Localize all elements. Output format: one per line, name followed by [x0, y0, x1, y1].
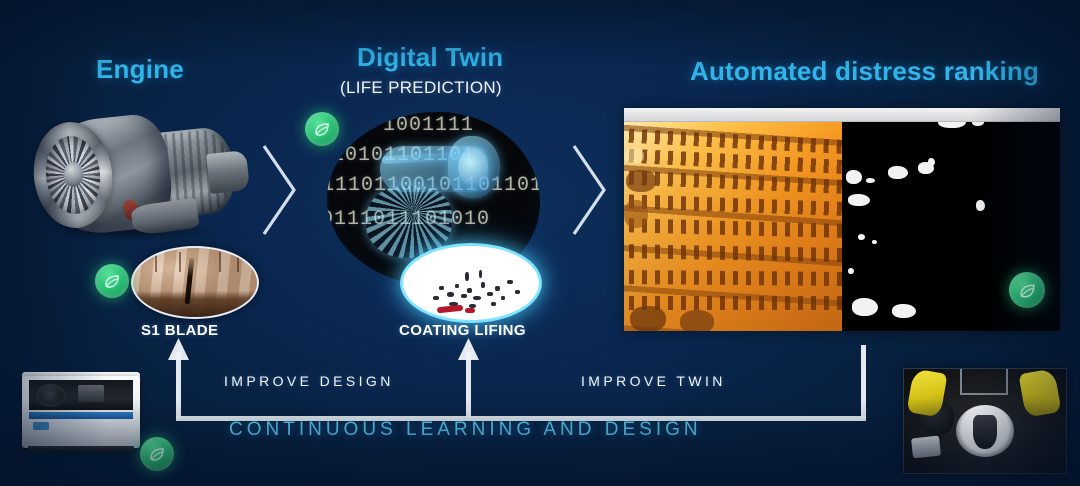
- printer-filament-spool: [36, 384, 66, 407]
- thermal-blotch: [680, 310, 714, 331]
- blade-row: [624, 194, 842, 216]
- binary-row: 110101101101: [327, 144, 475, 167]
- leaf-icon: [312, 119, 332, 139]
- leaf-badge-icon-twin[interactable]: [305, 112, 339, 146]
- speckle-red: [437, 305, 463, 314]
- mask-blob: [938, 122, 966, 128]
- speckle: [467, 288, 472, 293]
- speckle: [487, 292, 493, 296]
- engine-spinner: [64, 162, 83, 187]
- mask-blob: [872, 240, 877, 244]
- label-improve-twin: IMPROVE TWIN: [581, 373, 726, 389]
- printer-blue-band: [29, 412, 133, 419]
- thermal-blade-image: [624, 122, 842, 331]
- coating-lifing-inset: [400, 243, 542, 323]
- robot-gantry: [960, 369, 1008, 395]
- leaf-icon: [147, 444, 167, 464]
- printer-logo: [33, 422, 49, 430]
- leaf-icon: [102, 271, 122, 291]
- printer-base: [28, 446, 134, 452]
- leaf-badge-icon-engine[interactable]: [95, 264, 129, 298]
- window-body: [624, 122, 1060, 331]
- binary-row: 1001111: [383, 114, 474, 137]
- blade-notch: [219, 252, 221, 272]
- speckle: [465, 272, 469, 281]
- label-improve-design: IMPROVE DESIGN: [224, 373, 394, 389]
- speckle: [479, 270, 482, 278]
- speckle: [507, 280, 513, 284]
- jet-engine-image: [12, 108, 247, 243]
- mask-blob: [852, 298, 878, 316]
- blade-row: [624, 270, 842, 286]
- window-titlebar[interactable]: [624, 108, 1060, 122]
- robot-tray-part: [911, 436, 941, 459]
- speckle: [495, 286, 500, 291]
- automated-distress-ranking-window[interactable]: [624, 108, 1060, 331]
- speckle: [481, 282, 485, 288]
- label-continuous-learning-and-design: CONTINUOUS LEARNING AND DESIGN: [229, 419, 702, 441]
- blade-notch: [179, 252, 181, 272]
- mask-blob: [888, 166, 908, 179]
- page-title-automated-distress-ranking: Automated distress ranking: [690, 56, 1039, 87]
- caption-coating-lifing: COATING LIFING: [399, 322, 526, 339]
- speckle: [501, 296, 505, 300]
- chevron-right-icon-2: [568, 142, 612, 238]
- caption-s1-blade: S1 BLADE: [141, 322, 218, 339]
- leaf-icon: [1017, 280, 1038, 301]
- blade-notch: [237, 252, 239, 272]
- mask-blob: [972, 122, 984, 126]
- subtitle-life-prediction: (LIFE PREDICTION): [340, 78, 502, 98]
- mask-blob: [858, 234, 865, 240]
- chevron-right-icon-1: [258, 142, 302, 238]
- s1-blade-inset: [131, 246, 259, 319]
- mask-blob: [846, 170, 862, 184]
- leaf-badge-icon-printer[interactable]: [140, 437, 174, 471]
- printer-print-head: [78, 385, 104, 402]
- speckle-red: [465, 308, 475, 313]
- thermal-blotch: [630, 306, 666, 331]
- speckle: [439, 286, 444, 290]
- engine-nozzle: [206, 150, 250, 194]
- mask-blob: [848, 194, 870, 206]
- mask-blob: [848, 268, 854, 274]
- speckle: [455, 284, 459, 288]
- blade-row: [624, 244, 842, 262]
- blade-notch: [155, 252, 157, 272]
- page-title-engine: Engine: [96, 54, 184, 85]
- speckle: [515, 290, 520, 294]
- slide-canvas: Engine Digital Twin (LIFE PREDICTION) Au…: [0, 0, 1080, 486]
- speckle: [433, 296, 439, 300]
- speckle: [473, 296, 481, 300]
- mask-blob: [892, 304, 916, 318]
- thermal-blotch: [626, 170, 656, 192]
- robotic-inspection-cell-image: [903, 368, 1067, 474]
- speckle: [447, 292, 454, 297]
- blade-row: [624, 218, 842, 238]
- page-title-digital-twin: Digital Twin: [357, 42, 503, 73]
- blade-row: [624, 170, 842, 194]
- binary-row: 011101100101101101: [327, 174, 540, 197]
- robot-blade-under-inspection: [973, 415, 997, 449]
- binary-row: 0111011101010: [327, 208, 490, 231]
- speckle: [491, 302, 496, 306]
- additive-manufacturing-printer-image: [12, 358, 154, 458]
- thermal-blotch: [624, 148, 644, 164]
- speckle: [461, 294, 467, 298]
- mask-blob: [866, 178, 875, 183]
- thermal-blotch: [624, 200, 648, 228]
- mask-blob: [976, 200, 985, 211]
- leaf-badge-icon-ranking[interactable]: [1009, 272, 1045, 308]
- mask-blob: [928, 158, 935, 166]
